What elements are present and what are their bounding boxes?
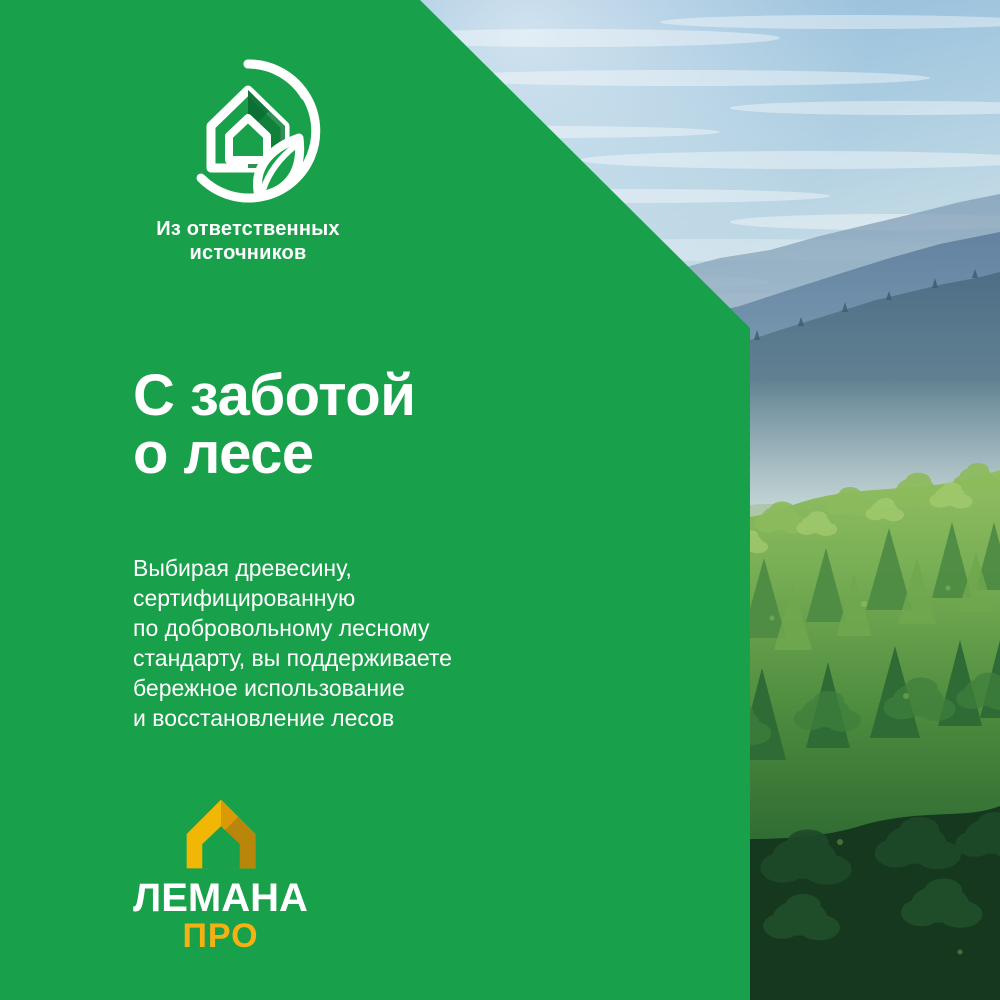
brand-name: ЛЕМАНА (133, 879, 308, 917)
poster-root: Из ответственных источников С заботой о … (0, 0, 1000, 1000)
house-leaf-circle-icon (173, 56, 323, 206)
headline: С заботой о лесе (133, 367, 693, 483)
eco-badge: Из ответственных источников (133, 56, 363, 265)
eco-badge-caption: Из ответственных источников (133, 218, 363, 265)
brand-subname: ПРО (133, 919, 308, 955)
house-logo-icon (182, 795, 260, 873)
body-copy: Выбирая древесину, сертифицированную по … (133, 553, 733, 733)
brand-lockup: ЛЕМАНА ПРО (133, 795, 308, 955)
